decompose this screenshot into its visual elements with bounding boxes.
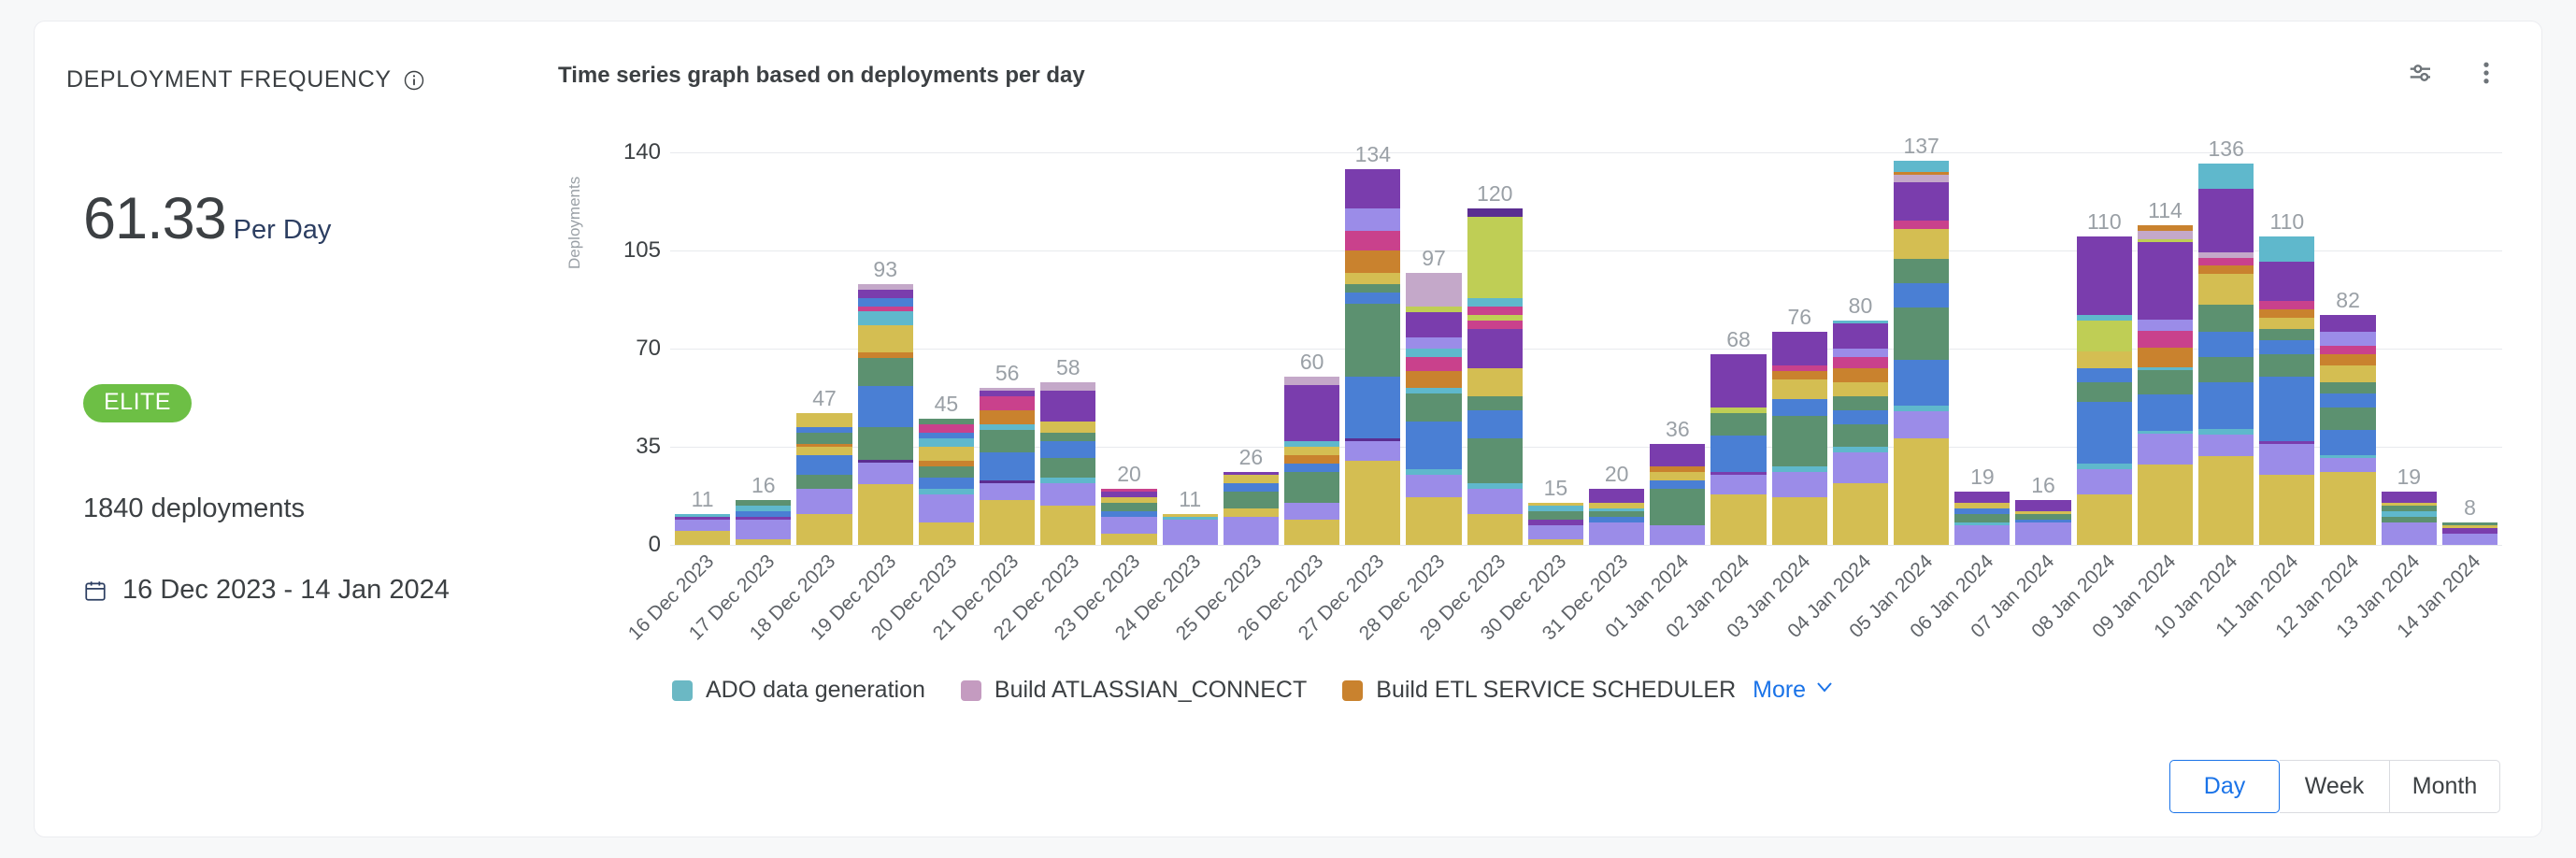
bar-value-label: 47 <box>812 388 837 409</box>
status-badge: ELITE <box>83 384 192 422</box>
legend-swatch <box>1342 680 1363 701</box>
bar-segment <box>2077 469 2132 494</box>
bar-column[interactable]: 97 <box>1403 115 1464 545</box>
bar-stack <box>1528 503 1583 545</box>
bar-value-label: 137 <box>1903 136 1939 157</box>
bar-segment <box>675 531 730 545</box>
bar-segment <box>2198 305 2254 333</box>
bar-segment <box>2198 189 2254 252</box>
bar-stack <box>1467 208 1523 545</box>
bar-column[interactable]: 8 <box>2440 115 2500 545</box>
bar-segment <box>1467 208 1523 217</box>
chevron-down-icon <box>1813 676 1836 705</box>
bar-value-label: 19 <box>1970 466 1995 488</box>
bar-segment <box>1040 441 1095 458</box>
bar-segment <box>1040 382 1095 391</box>
bar-stack <box>2259 236 2314 545</box>
bar-segment <box>858 463 913 484</box>
bar-segment <box>2259 301 2314 309</box>
bar-segment <box>1772 399 1827 416</box>
bar-column[interactable]: 114 <box>2135 115 2196 545</box>
bar-column[interactable]: 20 <box>1098 115 1159 545</box>
bar-segment <box>1772 416 1827 466</box>
bar-segment <box>1224 483 1279 492</box>
bar-value-label: 11 <box>1179 489 1201 510</box>
bar-segment <box>675 520 730 531</box>
bar-segment <box>980 500 1035 545</box>
bar-stack <box>1224 472 1279 545</box>
bar-value-label: 20 <box>1605 464 1629 485</box>
bar-value-label: 45 <box>935 393 959 415</box>
bar-segment <box>1467 217 1523 298</box>
bar-value-label: 60 <box>1300 351 1324 373</box>
y-axis-tick: 0 <box>582 532 661 558</box>
y-axis-tick: 35 <box>582 434 661 460</box>
bar-column[interactable]: 68 <box>1708 115 1768 545</box>
bar-segment <box>2138 331 2193 348</box>
bar-column[interactable]: 110 <box>2074 115 2135 545</box>
bar-segment <box>2259 318 2314 329</box>
bar-segment <box>1345 461 1400 545</box>
bar-segment <box>1833 424 1888 447</box>
chart-title: Time series graph based on deployments p… <box>558 63 1085 89</box>
bar-segment <box>1833 483 1888 545</box>
bar-segment <box>1772 379 1827 399</box>
bar-segment <box>1467 438 1523 483</box>
bar-segment <box>1406 273 1461 307</box>
bar-segment <box>1040 391 1095 422</box>
bar-segment <box>980 430 1035 452</box>
bar-value-label: 11 <box>692 489 714 510</box>
calendar-icon <box>83 579 107 603</box>
bar-column[interactable]: 76 <box>1769 115 1830 545</box>
bar-segment <box>1101 517 1156 534</box>
bar-segment <box>1040 458 1095 478</box>
bar-segment <box>2077 351 2132 368</box>
bar-segment <box>1284 472 1339 503</box>
bar-stack <box>2015 500 2070 545</box>
bar-segment <box>1894 438 1949 545</box>
bar-segment <box>1650 489 1705 525</box>
bar-segment <box>2198 265 2254 274</box>
chart-panel: Time series graph based on deployments p… <box>558 21 2541 837</box>
bar-value-label: 36 <box>1666 419 1690 440</box>
bar-column[interactable]: 19 <box>1952 115 2012 545</box>
bar-segment <box>2015 500 2070 511</box>
bar-column[interactable]: 19 <box>2379 115 2440 545</box>
bar-segment <box>1040 422 1095 433</box>
bar-stack <box>796 413 852 545</box>
bar-value-label: 134 <box>1355 144 1391 165</box>
bar-column[interactable]: 36 <box>1647 115 1708 545</box>
bar-value-label: 19 <box>2397 466 2421 488</box>
bar-column[interactable]: 110 <box>2256 115 2317 545</box>
summary-title-row: DEPLOYMENT FREQUENCY <box>66 66 558 93</box>
bar-segment <box>796 413 852 427</box>
bar-segment <box>2259 475 2314 545</box>
bar-segment <box>1894 175 1949 183</box>
bar-series: 1116479345565820112660134971201520366876… <box>672 115 2500 545</box>
bar-segment <box>1589 522 1644 545</box>
bar-segment <box>1345 304 1400 377</box>
bar-segment <box>919 447 974 461</box>
bar-segment <box>2138 348 2193 367</box>
bar-column[interactable]: 136 <box>2196 115 2256 545</box>
legend-swatch <box>672 680 693 701</box>
bar-segment <box>1345 293 1400 304</box>
bar-segment <box>1833 323 1888 349</box>
bar-segment <box>1224 517 1279 545</box>
bar-segment <box>2259 236 2314 262</box>
bar-stack <box>980 388 1035 545</box>
bar-segment <box>1345 284 1400 293</box>
chart-legend: ADO data generationBuild ATLASSIAN_CONNE… <box>672 676 1836 705</box>
bar-segment <box>1406 475 1461 497</box>
bar-segment <box>1650 472 1705 480</box>
bar-column[interactable]: 20 <box>1586 115 1647 545</box>
bar-segment <box>858 290 913 298</box>
bar-stack <box>2077 236 2132 545</box>
bar-segment <box>1406 349 1461 357</box>
bar-segment <box>2015 522 2070 545</box>
bar-segment <box>2320 430 2375 455</box>
bar-segment <box>1894 259 1949 283</box>
bar-segment <box>1224 492 1279 508</box>
bar-column[interactable]: 134 <box>1342 115 1403 545</box>
bar-segment <box>796 447 852 455</box>
bar-segment <box>1833 452 1888 483</box>
bar-segment <box>1710 413 1766 436</box>
bar-segment <box>1284 520 1339 545</box>
bar-segment <box>1040 483 1095 506</box>
bar-segment <box>1589 489 1644 503</box>
bar-stack <box>919 419 974 545</box>
legend-more-button[interactable]: More <box>1753 676 1836 705</box>
bar-segment <box>1710 436 1766 472</box>
bar-column[interactable]: 45 <box>916 115 977 545</box>
bar-segment <box>1101 534 1156 545</box>
bar-segment <box>796 489 852 514</box>
bar-segment <box>1650 444 1705 466</box>
bar-segment <box>1406 312 1461 337</box>
legend-swatch <box>961 680 981 701</box>
bar-segment <box>919 466 974 478</box>
bar-segment <box>2198 258 2254 266</box>
bar-segment <box>1833 410 1888 424</box>
bar-segment <box>2259 377 2314 441</box>
kebab-menu-icon[interactable] <box>2470 57 2502 89</box>
bar-segment <box>2198 274 2254 305</box>
bar-segment <box>796 455 852 475</box>
metric-unit: Per Day <box>234 215 332 246</box>
bar-segment <box>1772 472 1827 497</box>
bar-segment <box>1467 410 1523 438</box>
bar-segment <box>796 475 852 489</box>
bar-segment <box>2259 340 2314 354</box>
bar-value-label: 97 <box>1422 248 1446 269</box>
bar-segment <box>1528 539 1583 545</box>
granularity-toggle: DayWeekMonth <box>2169 760 2500 813</box>
bar-segment <box>2320 365 2375 382</box>
bar-segment <box>1345 273 1400 284</box>
bar-value-label: 16 <box>751 475 776 496</box>
bar-column[interactable]: 82 <box>2317 115 2378 545</box>
bar-value-label: 16 <box>2031 475 2055 496</box>
deployment-frequency-card: DEPLOYMENT FREQUENCY 61.33 Per Day ELITE… <box>34 21 2542 837</box>
bar-segment <box>2320 332 2375 346</box>
bar-stack <box>1650 444 1705 545</box>
bar-segment <box>1833 396 1888 410</box>
chart-header: Time series graph based on deployments p… <box>558 63 2541 89</box>
gridline <box>670 545 2502 546</box>
bar-segment <box>1467 321 1523 329</box>
bar-column[interactable]: 80 <box>1830 115 1891 545</box>
y-axis-tick: 140 <box>582 139 661 165</box>
bar-segment <box>736 520 791 539</box>
bar-segment <box>2320 315 2375 332</box>
bar-column[interactable]: 56 <box>977 115 1038 545</box>
bar-segment <box>2259 444 2314 475</box>
bar-segment <box>858 298 913 307</box>
bar-segment <box>1710 354 1766 408</box>
date-range-text: 16 Dec 2023 - 14 Jan 2024 <box>122 575 450 606</box>
legend-item[interactable]: Build ETL SERVICE SCHEDULER <box>1342 677 1736 704</box>
bar-stack <box>736 500 791 545</box>
bar-value-label: 136 <box>2208 138 2243 160</box>
bar-segment <box>1284 377 1339 385</box>
y-axis-tick: 70 <box>582 336 661 362</box>
bar-column[interactable]: 26 <box>1221 115 1281 545</box>
bar-segment <box>1772 371 1827 379</box>
bar-segment <box>1833 357 1888 368</box>
bar-value-label: 26 <box>1239 447 1264 468</box>
bar-segment <box>2320 458 2375 472</box>
bar-column[interactable]: 11 <box>672 115 733 545</box>
bar-stack <box>675 514 730 545</box>
y-axis-tick: 105 <box>582 237 661 264</box>
bar-segment <box>2198 456 2254 545</box>
bar-segment <box>2320 393 2375 408</box>
bar-segment <box>2138 434 2193 465</box>
bar-segment <box>796 433 852 444</box>
bar-stack <box>1589 489 1644 545</box>
bar-segment <box>1894 182 1949 221</box>
bar-segment <box>1894 307 1949 359</box>
bar-segment <box>2077 402 2132 464</box>
bar-stack <box>858 284 913 545</box>
bar-value-label: 120 <box>1477 183 1512 205</box>
y-axis-label: Deployments <box>565 177 584 269</box>
bar-segment <box>1710 494 1766 545</box>
bar-segment <box>2320 354 2375 365</box>
bar-segment <box>1345 441 1400 461</box>
bar-segment <box>1406 371 1461 388</box>
bar-segment <box>858 325 913 352</box>
bar-column[interactable]: 11 <box>1160 115 1221 545</box>
bar-stack <box>1710 354 1766 545</box>
legend-label: Build ETL SERVICE SCHEDULER <box>1376 677 1736 704</box>
bar-stack <box>1163 514 1218 545</box>
bar-column[interactable]: 47 <box>794 115 854 545</box>
bar-stack <box>2382 492 2437 545</box>
bar-segment <box>1650 525 1705 545</box>
bar-value-label: 110 <box>2087 211 2122 233</box>
bar-segment <box>1224 508 1279 517</box>
bar-segment <box>2320 346 2375 354</box>
bar-value-label: 68 <box>1726 329 1751 350</box>
date-range-row: 16 Dec 2023 - 14 Jan 2024 <box>83 575 450 606</box>
bar-segment <box>796 514 852 545</box>
plot-area: Deployments 03570105140 1116479345565820… <box>558 115 2541 545</box>
legend-label: Build ATLASSIAN_CONNECT <box>995 677 1307 704</box>
bar-value-label: 82 <box>2336 290 2360 311</box>
bar-column[interactable]: 93 <box>855 115 916 545</box>
bar-segment <box>980 452 1035 480</box>
bar-segment <box>2198 332 2254 357</box>
bar-segment <box>1467 514 1523 545</box>
bar-segment <box>1894 283 1949 307</box>
bar-stack <box>2320 315 2375 545</box>
bar-segment <box>1954 514 2010 522</box>
bar-stack <box>2198 164 2254 545</box>
bar-segment <box>1406 422 1461 469</box>
bar-value-label: 80 <box>1849 295 1873 317</box>
bar-stack <box>2138 225 2193 545</box>
bar-segment <box>1467 329 1523 368</box>
bar-segment <box>1528 525 1583 539</box>
bar-column[interactable]: 120 <box>1465 115 1525 545</box>
bar-segment <box>2382 492 2437 503</box>
bar-value-label: 20 <box>1117 464 1141 485</box>
bar-segment <box>2138 465 2193 545</box>
bar-segment <box>1894 360 1949 407</box>
bar-segment <box>1163 520 1218 545</box>
legend-item[interactable]: ADO data generation <box>672 677 925 704</box>
bar-segment <box>1894 411 1949 438</box>
bar-segment <box>1650 480 1705 489</box>
granularity-week-button[interactable]: Week <box>2280 760 2390 813</box>
bar-segment <box>1345 231 1400 250</box>
bar-segment <box>2077 236 2132 315</box>
bar-segment <box>1772 497 1827 545</box>
bar-segment <box>2259 309 2314 318</box>
bar-segment <box>1710 475 1766 494</box>
legend-item[interactable]: Build ATLASSIAN_CONNECT <box>961 677 1307 704</box>
bar-column[interactable]: 60 <box>1281 115 1342 545</box>
bar-segment <box>980 396 1035 410</box>
bar-column[interactable]: 16 <box>2012 115 2073 545</box>
bar-segment <box>1345 250 1400 273</box>
metric-row: 61.33 Per Day <box>83 190 331 249</box>
bar-segment <box>1467 368 1523 396</box>
bar-segment <box>2138 320 2193 331</box>
bar-segment <box>2320 408 2375 430</box>
bar-segment <box>2077 382 2132 402</box>
bar-stack <box>1345 169 1400 545</box>
bar-stack <box>1954 492 2010 545</box>
bar-stack <box>1894 161 1949 545</box>
bar-column[interactable]: 137 <box>1891 115 1952 545</box>
bar-segment <box>858 311 913 325</box>
bar-segment <box>736 539 791 545</box>
bar-segment <box>1345 377 1400 438</box>
bar-value-label: 56 <box>995 363 1020 384</box>
bar-stack <box>1406 273 1461 545</box>
bar-segment <box>1345 208 1400 231</box>
bar-segment <box>1833 382 1888 396</box>
bar-segment <box>1406 357 1461 371</box>
bar-segment <box>1224 475 1279 483</box>
bar-segment <box>1345 169 1400 208</box>
bar-segment <box>2077 494 2132 545</box>
bar-segment <box>1284 503 1339 520</box>
bar-column[interactable]: 16 <box>733 115 794 545</box>
granularity-day-button[interactable]: Day <box>2169 760 2280 813</box>
bar-value-label: 58 <box>1056 357 1080 379</box>
bar-segment <box>1040 506 1095 545</box>
bar-segment <box>2320 382 2375 393</box>
granularity-month-button[interactable]: Month <box>2390 760 2500 813</box>
bar-segment <box>1528 511 1583 520</box>
bar-segment <box>2442 534 2497 545</box>
bar-stack <box>2442 522 2497 545</box>
bar-segment <box>858 386 913 427</box>
bar-segment <box>858 427 913 460</box>
bar-segment <box>1284 455 1339 464</box>
bar-segment <box>1406 337 1461 349</box>
bar-segment <box>1284 464 1339 472</box>
bar-segment <box>2320 472 2375 545</box>
bar-segment <box>858 484 913 545</box>
bar-segment <box>1406 497 1461 545</box>
bar-column[interactable]: 58 <box>1038 115 1098 545</box>
deployments-count: 1840 deployments <box>83 493 305 524</box>
bar-segment <box>2259 262 2314 301</box>
bar-stack <box>1833 321 1888 545</box>
bar-segment <box>2259 329 2314 340</box>
info-icon[interactable] <box>403 69 425 92</box>
bar-value-label: 93 <box>873 259 897 280</box>
bar-column[interactable]: 15 <box>1525 115 1586 545</box>
bar-segment <box>980 483 1035 500</box>
bar-segment <box>1954 525 2010 545</box>
bar-value-label: 8 <box>2464 497 2476 519</box>
bar-segment <box>1894 229 1949 259</box>
bar-value-label: 15 <box>1544 478 1568 499</box>
bar-segment <box>2138 242 2193 320</box>
bar-stack <box>1772 332 1827 545</box>
bar-segment <box>919 522 974 545</box>
bar-value-label: 110 <box>2270 211 2305 233</box>
bar-segment <box>1467 489 1523 514</box>
bar-segment <box>919 438 974 447</box>
header-actions <box>2405 57 2502 89</box>
bar-segment <box>1954 492 2010 503</box>
bar-stack <box>1101 489 1156 545</box>
bar-segment <box>1467 298 1523 307</box>
bar-segment <box>858 358 913 385</box>
bar-segment <box>2198 435 2254 457</box>
bar-stack <box>1040 382 1095 545</box>
bar-segment <box>2198 382 2254 429</box>
bar-segment <box>919 494 974 522</box>
bar-segment <box>2382 522 2437 545</box>
bar-segment <box>2198 357 2254 382</box>
bar-segment <box>2259 354 2314 377</box>
sliders-icon[interactable] <box>2405 57 2437 89</box>
bar-segment <box>1467 396 1523 410</box>
bar-segment <box>1101 503 1156 511</box>
